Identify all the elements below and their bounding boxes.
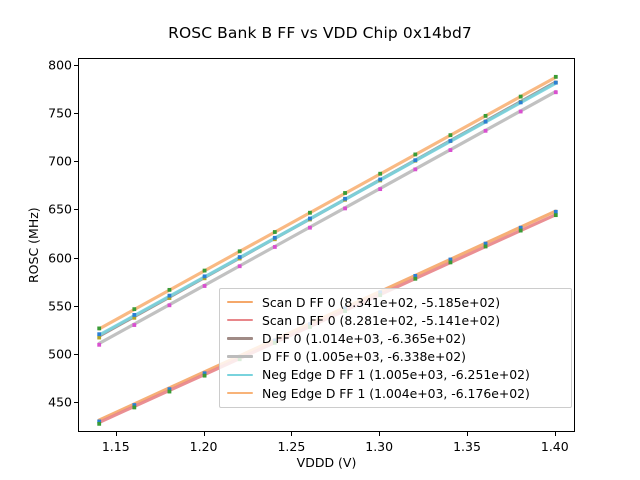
legend-color-swatch [227,337,253,339]
scatter-point [378,172,382,176]
scatter-point [554,81,558,85]
legend-item[interactable]: D FF 0 (1.005e+03, -6.338e+02) [227,348,564,366]
x-tick-label: 1.15 [102,439,130,454]
y-tick-label: 650 [48,202,72,217]
scatter-point [238,249,242,253]
scatter-point [273,230,277,234]
scatter-point [449,133,453,137]
y-tick-mark [74,306,78,307]
legend-color-swatch [227,319,253,321]
scatter-point [554,210,558,214]
legend-label: Scan D FF 0 (8.281e+02, -5.141e+02) [262,313,500,328]
scatter-point [519,100,523,104]
scatter-point [554,213,558,217]
scatter-point [449,260,453,264]
scatter-point [97,332,101,336]
scatter-point [308,226,312,230]
scatter-point [413,158,417,162]
scatter-point [203,374,207,378]
y-tick-label: 800 [48,57,72,72]
legend-item[interactable]: Neg Edge D FF 1 (1.004e+03, -6.176e+02) [227,384,564,402]
x-tick-mark [204,432,205,436]
scatter-point [308,211,312,215]
x-tick-mark [116,432,117,436]
x-axis-label: VDDD (V) [78,455,575,470]
scatter-point [168,288,172,292]
scatter-point [97,343,101,347]
y-tick-label: 600 [48,250,72,265]
scatter-point [203,274,207,278]
y-tick-mark [74,161,78,162]
x-tick-mark [291,432,292,436]
x-tick-mark [379,432,380,436]
scatter-point [238,264,242,268]
chart-title: ROSC Bank B FF vs VDD Chip 0x14bd7 [0,24,640,42]
legend-color-swatch [227,374,253,376]
y-tick-label: 500 [48,346,72,361]
scatter-point [413,277,417,281]
y-tick-label: 750 [48,105,72,120]
x-tick-mark [467,432,468,436]
y-tick-mark [74,65,78,66]
legend-item[interactable]: Scan D FF 0 (8.341e+02, -5.185e+02) [227,293,564,311]
legend-item[interactable]: Scan D FF 0 (8.281e+02, -5.141e+02) [227,311,564,329]
y-axis-label: ROSC (MHz) [26,207,41,283]
scatter-point [449,139,453,143]
scatter-point [132,323,136,327]
y-tick-mark [74,354,78,355]
scatter-point [343,197,347,201]
scatter-point [132,406,136,410]
scatter-point [203,284,207,288]
scatter-point [308,217,312,221]
x-tick-label: 1.30 [365,439,393,454]
scatter-point [554,75,558,79]
legend-label: D FF 0 (1.005e+03, -6.338e+02) [262,349,466,364]
y-tick-label: 550 [48,298,72,313]
x-tick-mark [555,432,556,436]
scatter-point [484,245,488,249]
y-tick-mark [74,209,78,210]
scatter-point [168,390,172,394]
legend-item[interactable]: D FF 0 (1.014e+03, -6.365e+02) [227,329,564,347]
scatter-point [413,167,417,171]
scatter-point [519,95,523,99]
scatter-point [168,294,172,298]
scatter-point [97,336,101,340]
scatter-point [519,110,523,114]
legend-color-swatch [227,355,253,357]
scatter-point [378,187,382,191]
chart-figure: ROSC Bank B FF vs VDD Chip 0x14bd7 ROSC … [0,0,640,480]
scatter-point [238,255,242,259]
scatter-point [132,313,136,317]
y-tick-mark [74,402,78,403]
scatter-point [484,120,488,124]
scatter-point [132,307,136,311]
scatter-point [343,191,347,195]
y-tick-mark [74,113,78,114]
scatter-point [484,114,488,118]
legend-item[interactable]: Neg Edge D FF 1 (1.005e+03, -6.251e+02) [227,366,564,384]
x-tick-label: 1.35 [453,439,481,454]
scatter-point [97,327,101,331]
legend-color-swatch [227,301,253,303]
legend-label: Neg Edge D FF 1 (1.004e+03, -6.176e+02) [262,386,530,401]
scatter-point [273,245,277,249]
legend-label: D FF 0 (1.014e+03, -6.365e+02) [262,331,466,346]
scatter-point [168,303,172,307]
legend-color-swatch [227,392,253,394]
legend-label: Neg Edge D FF 1 (1.005e+03, -6.251e+02) [262,367,530,382]
x-tick-label: 1.20 [190,439,218,454]
scatter-point [273,236,277,240]
y-tick-label: 450 [48,395,72,410]
legend-label: Scan D FF 0 (8.341e+02, -5.185e+02) [262,295,500,310]
chart-legend: Scan D FF 0 (8.341e+02, -5.185e+02)Scan … [219,288,572,408]
scatter-point [97,422,101,426]
scatter-point [554,90,558,94]
scatter-point [343,207,347,211]
y-tick-mark [74,258,78,259]
scatter-point [519,229,523,233]
scatter-point [449,148,453,152]
scatter-point [378,178,382,182]
x-tick-label: 1.40 [541,439,569,454]
x-tick-label: 1.25 [277,439,305,454]
scatter-point [203,269,207,273]
scatter-point [484,129,488,133]
scatter-point [413,153,417,157]
y-tick-label: 700 [48,154,72,169]
